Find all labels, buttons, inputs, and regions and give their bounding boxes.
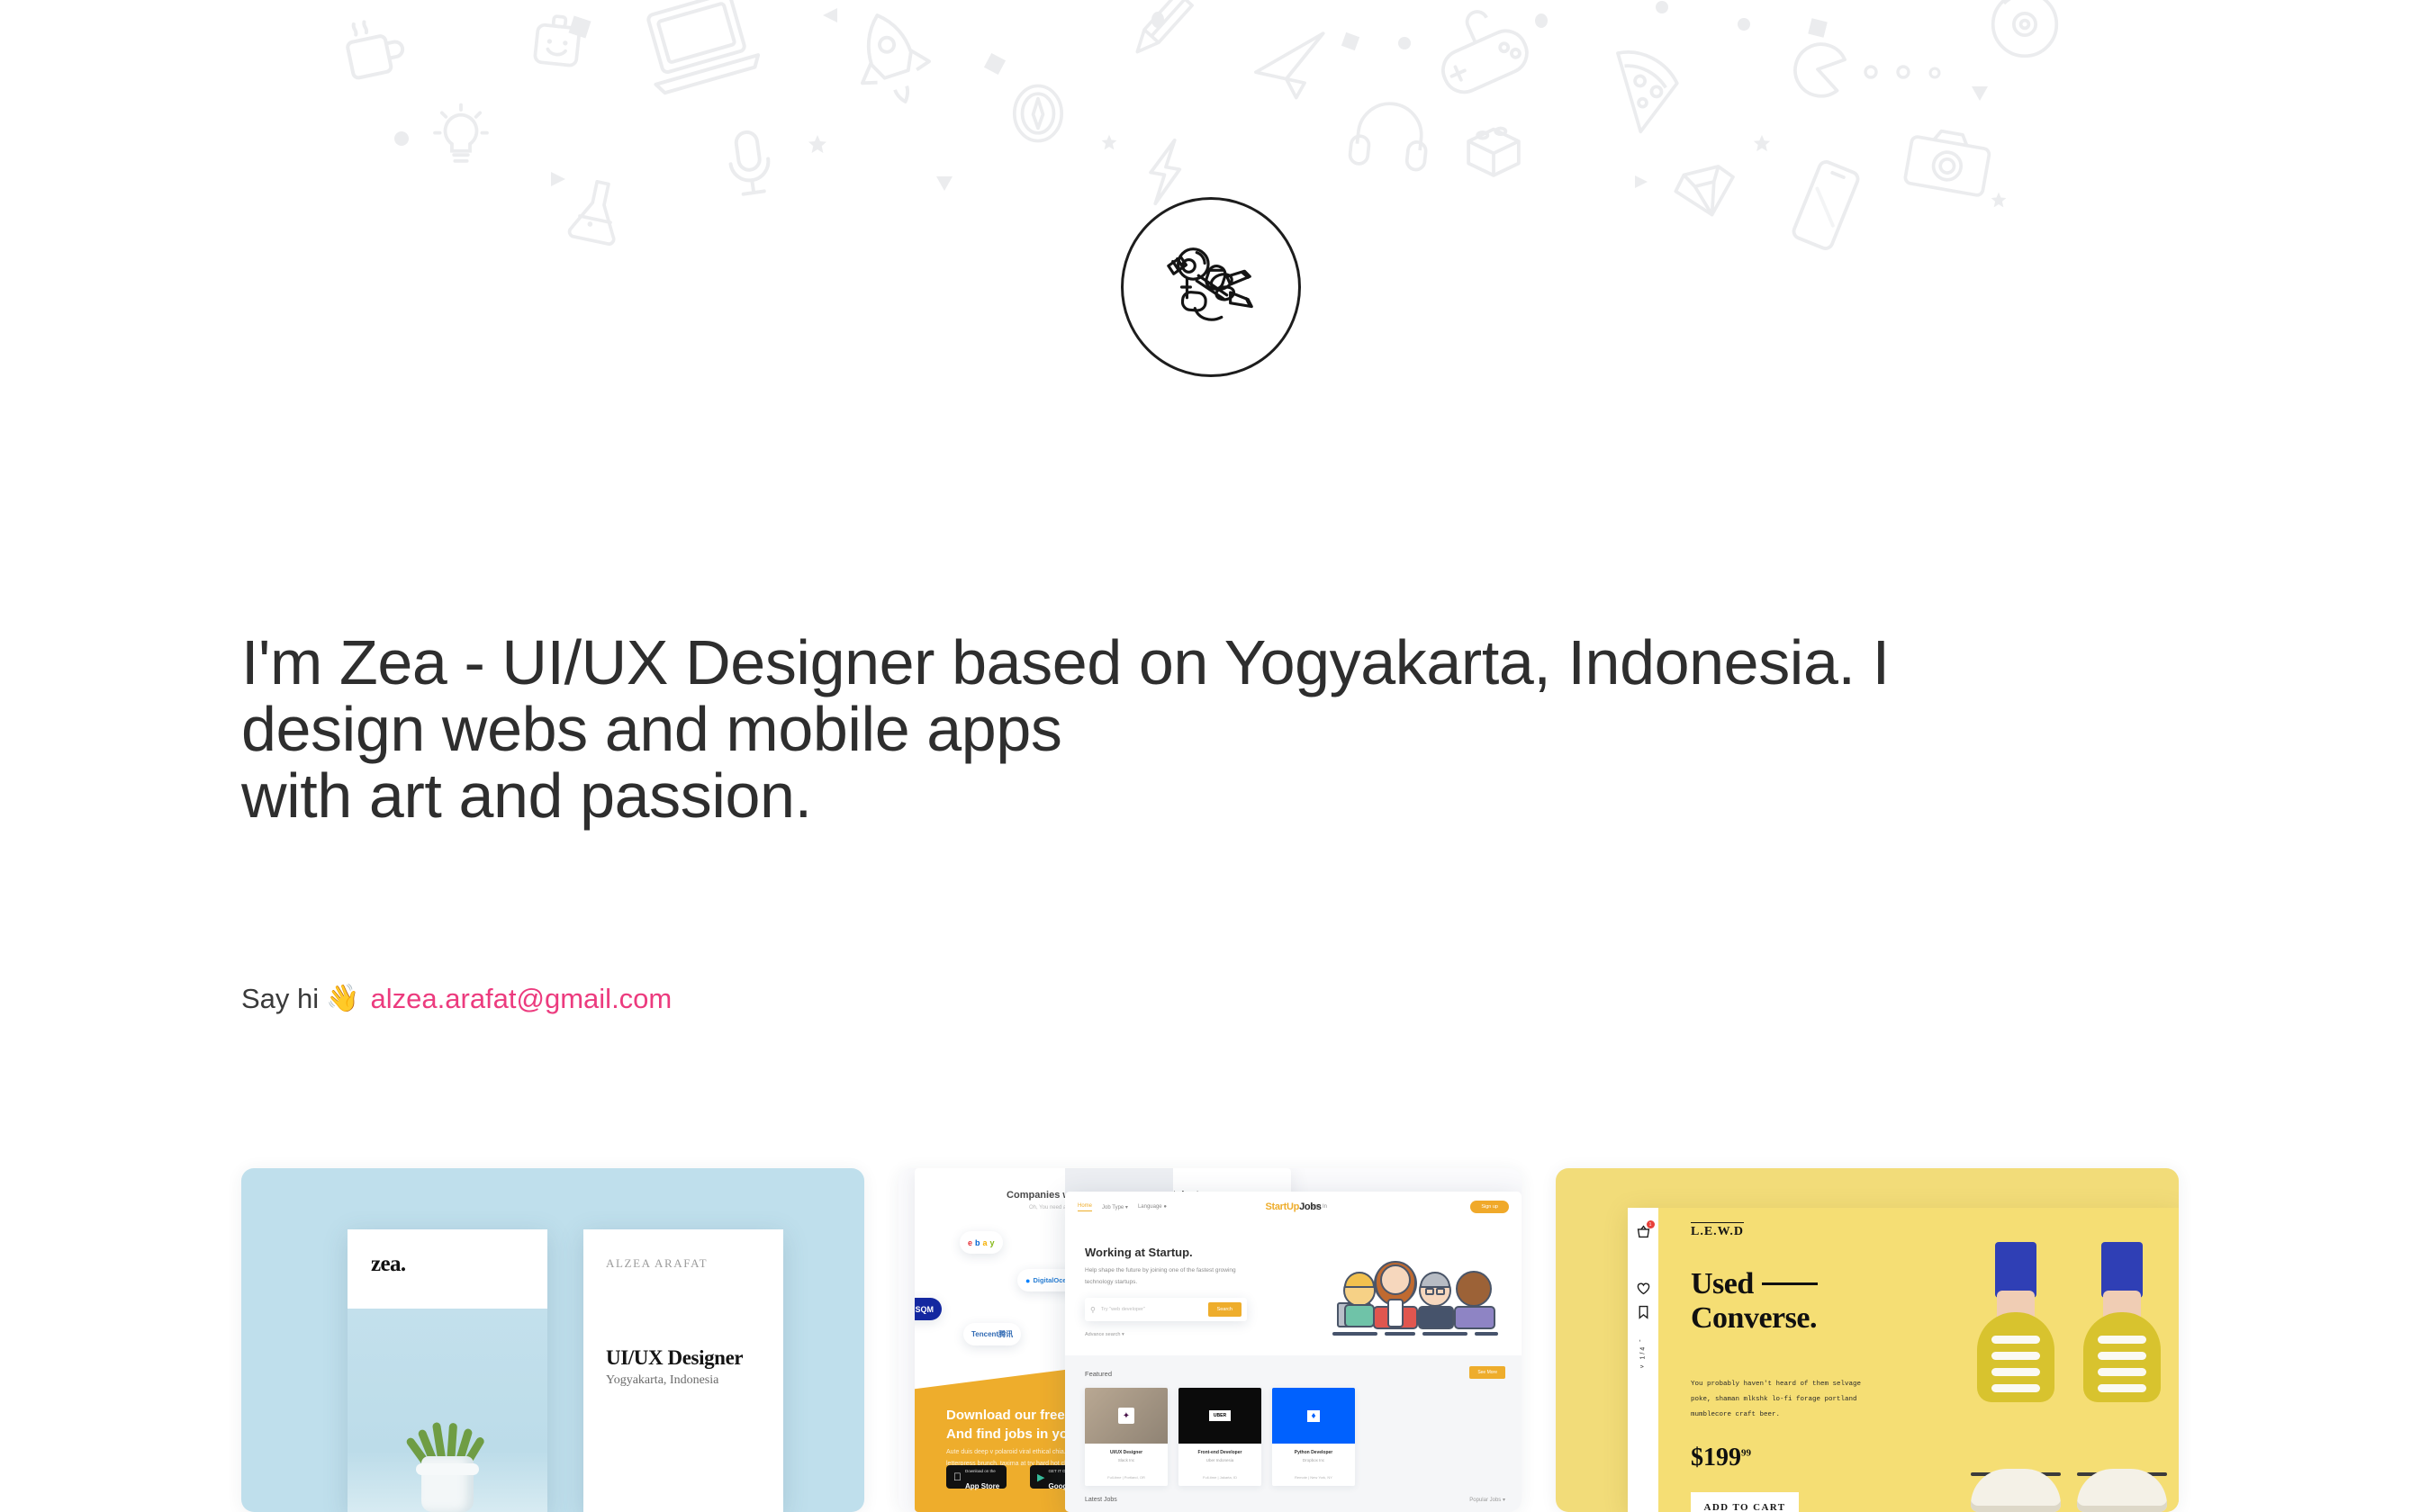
portfolio-card-grid: zea. ALZE [241, 1168, 2179, 1512]
diamond-icon [1668, 155, 1743, 226]
product-photo [1963, 1208, 2179, 1512]
nav-item-job-type[interactable]: Job Type ▾ [1102, 1204, 1128, 1210]
square-icon [1808, 18, 1828, 38]
product-price: $19999 [1691, 1444, 1751, 1472]
zea-logo-text: zea. [371, 1252, 406, 1277]
product-title: Used Converse. [1691, 1267, 1848, 1336]
search-button[interactable]: Search [1208, 1302, 1242, 1317]
bookmark-icon[interactable] [1636, 1304, 1651, 1319]
see-more-button[interactable]: See More [1469, 1366, 1505, 1379]
startupjobs-logo: StartUpJobs [1265, 1201, 1321, 1212]
dot-icon [1151, 11, 1165, 29]
add-to-cart-button[interactable]: ADD TO CART [1691, 1492, 1799, 1512]
basket-icon[interactable]: 1 [1636, 1224, 1651, 1239]
sign-up-button[interactable]: Sign up [1470, 1201, 1509, 1213]
contact-label: Say hi [241, 985, 319, 1012]
paper-plane-icon [1246, 26, 1336, 108]
headphones-icon [1345, 89, 1435, 175]
laptop-icon [628, 0, 767, 103]
pizza-icon [1603, 33, 1694, 142]
astronaut-badge-icon [1121, 197, 1301, 377]
portfolio-card-zea-branding[interactable]: zea. ALZE [241, 1168, 864, 1512]
compass-icon [1008, 81, 1068, 146]
star-icon [1990, 191, 2008, 209]
pacman-dot-icon [1927, 65, 1943, 81]
star-icon [1752, 133, 1772, 153]
card-location: Yogyakarta, Indonesia [606, 1373, 718, 1388]
heart-icon[interactable] [1636, 1281, 1651, 1296]
lego-brick-icon [1458, 115, 1529, 185]
dot-icon [1397, 36, 1412, 50]
portfolio-page: I'm Zea - UI/UX Designer based on Yogyak… [0, 0, 2420, 1512]
lewd-pagination[interactable]: ˅ 1/4 ˆ [1640, 1337, 1647, 1368]
contact-line: Say hi 👋 alzea.arafat@gmail.com [241, 985, 672, 1012]
job-meta: Full-time | Jakarta, ID [1178, 1475, 1261, 1486]
business-card-sheet: ALZEA ARAFAT UI/UX Designer Yogyakarta, … [583, 1229, 783, 1512]
converse-shoe-right [2072, 1242, 2172, 1512]
job-thumbnail: ♦ [1272, 1388, 1355, 1444]
site-logo[interactable] [1121, 197, 1301, 377]
advance-search-toggle[interactable]: Advance search ▾ [1085, 1332, 1124, 1337]
hero-section: I'm Zea - UI/UX Designer based on Yogyak… [241, 630, 2087, 830]
startupjobs-site-mockup: Home Job Type ▾ Language ● StartUpJobs S… [1065, 1192, 1522, 1512]
converse-shoe-left [1966, 1242, 2065, 1512]
square-icon [568, 15, 591, 38]
popular-jobs-filter[interactable]: Popular Jobs ▾ [1469, 1497, 1505, 1503]
featured-label: Featured [1085, 1370, 1112, 1378]
job-title: Python Developer [1272, 1450, 1355, 1455]
cart-count-badge: 1 [1647, 1220, 1655, 1228]
site-hero-subtitle: Help shape the future by joining one of … [1085, 1265, 1265, 1288]
triangle-icon [1633, 175, 1649, 189]
job-company: Slack Inc [1085, 1458, 1168, 1462]
card-role: UI/UX Designer [606, 1346, 743, 1370]
triangle-icon [1972, 86, 1988, 101]
team-illustration [1318, 1244, 1509, 1338]
job-card[interactable]: ♦ Python Developer Dropbox Inc Remote | … [1272, 1388, 1355, 1486]
lewd-shop-mockup: 1 ˅ 1/4 ˆ L.E.W.D Used Converse. You pro… [1628, 1208, 2179, 1512]
waving-hand-icon: 👋 [326, 985, 359, 1012]
portfolio-card-lewd[interactable]: 1 ˅ 1/4 ˆ L.E.W.D Used Converse. You pro… [1556, 1168, 2179, 1512]
job-card[interactable]: ✦ UI/UX Designer Slack Inc Full-time | P… [1085, 1388, 1168, 1486]
star-icon [807, 133, 828, 155]
plant-photo [348, 1309, 547, 1512]
pacman-icon [1783, 35, 1851, 103]
lightbulb-icon [430, 101, 492, 171]
site-hero-title: Working at Startup. [1085, 1246, 1193, 1259]
job-company: Dropbox Inc [1272, 1458, 1355, 1462]
search-placeholder: Try "web developer" [1101, 1307, 1145, 1312]
smartphone-icon [1782, 151, 1870, 259]
company-logo-tencent: Tencent腾讯 [963, 1323, 1021, 1345]
email-link[interactable]: alzea.arafat@gmail.com [371, 985, 673, 1012]
app-store-badge[interactable]:  Download on theApp Store [946, 1465, 1007, 1489]
job-meta: Full-time | Portland, OR [1085, 1475, 1168, 1486]
job-search-bar[interactable]: ⚲ Try "web developer" Search [1085, 1298, 1247, 1321]
lewd-brand-logo: L.E.W.D [1691, 1222, 1744, 1239]
gamepad-icon [1417, 0, 1541, 106]
card-eyebrow: ALZEA ARAFAT [606, 1256, 708, 1271]
cd-disc-icon [1986, 0, 2063, 63]
featured-jobs-section: Featured See More ✦ UI/UX Designer Slack… [1065, 1355, 1522, 1512]
plant-illustration [412, 1415, 483, 1512]
job-title: UI/UX Designer [1085, 1450, 1168, 1455]
lewd-sidebar-rail: 1 ˅ 1/4 ˆ [1628, 1208, 1658, 1512]
page-title: I'm Zea - UI/UX Designer based on Yogyak… [241, 630, 2087, 830]
portfolio-card-startupjobs[interactable]: Companies we are helped in hiring talent… [898, 1168, 1522, 1512]
triangle-icon [821, 7, 839, 23]
dot-icon [1655, 0, 1669, 14]
job-thumbnail: ✦ [1085, 1388, 1168, 1444]
job-thumbnail: UBER [1178, 1388, 1261, 1444]
headline-line-1: I'm Zea - UI/UX Designer based on Yogyak… [241, 627, 1890, 764]
job-card[interactable]: UBER Front-end Developer Uber Indonesia … [1178, 1388, 1261, 1486]
pencil-icon [1104, 0, 1218, 84]
headline-line-2: with art and passion. [241, 760, 812, 831]
job-title: Front-end Developer [1178, 1450, 1261, 1455]
flask-icon [563, 171, 631, 249]
dot-icon [1738, 18, 1750, 31]
company-logo-msqm: MSQM [915, 1298, 942, 1320]
search-icon: ⚲ [1090, 1306, 1096, 1314]
rocket-icon [836, 0, 945, 119]
square-icon [984, 53, 1006, 75]
latest-jobs-label: Latest Jobs [1085, 1497, 1117, 1503]
nav-item-home[interactable]: Home [1078, 1203, 1092, 1211]
dot-icon [394, 131, 409, 146]
job-meta: Remote | New York, NY [1272, 1475, 1355, 1486]
microphone-icon [715, 124, 784, 207]
brand-logo-sheet: zea. [348, 1229, 547, 1512]
nav-item-language[interactable]: Language ● [1138, 1204, 1167, 1210]
triangle-icon [549, 171, 567, 187]
pacman-dot-icon [1894, 63, 1912, 81]
job-company: Uber Indonesia [1178, 1458, 1261, 1462]
dot-icon [1534, 13, 1549, 29]
star-icon [1100, 133, 1118, 151]
plant-pot [421, 1456, 474, 1512]
square-icon [1341, 32, 1360, 51]
coffee-mug-icon [334, 10, 415, 91]
pacman-dot-icon [1862, 63, 1880, 81]
camera-icon [1899, 115, 1997, 204]
triangle-icon [936, 176, 953, 191]
lego-head-icon [527, 10, 589, 76]
product-description: You probably haven't heard of them selva… [1691, 1377, 1862, 1423]
site-navbar: Home Job Type ▾ Language ● StartUpJobs S… [1065, 1192, 1522, 1222]
company-logo-ebay: ebay [960, 1231, 1003, 1254]
